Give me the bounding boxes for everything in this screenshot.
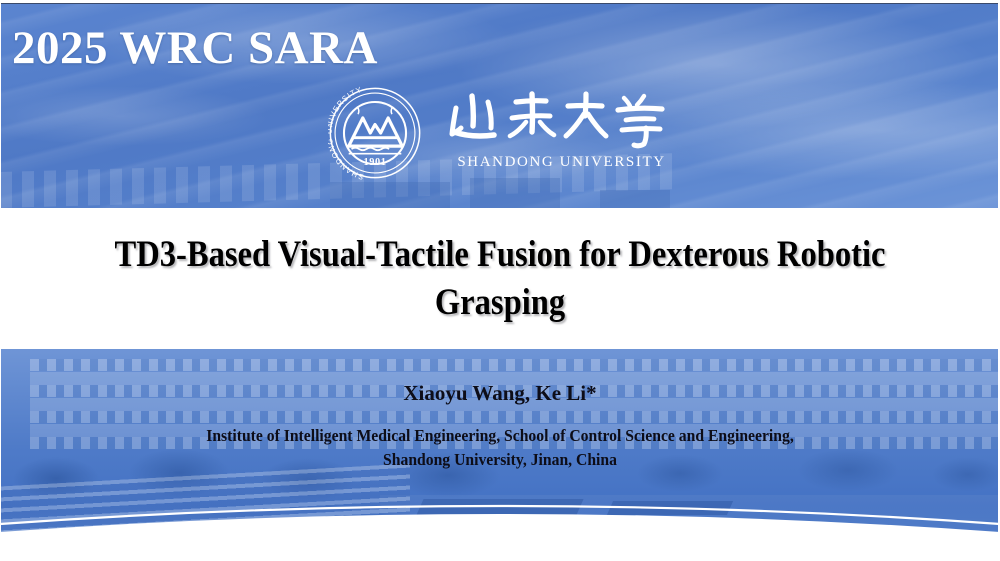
rooftop-block: [470, 178, 560, 208]
conference-name: 2025 WRC SARA: [12, 24, 378, 73]
author-names: Xiaoyu Wang, Ke Li*: [0, 380, 1000, 407]
plaza-slab: [607, 501, 733, 515]
top-hairline: [0, 3, 1000, 4]
rooftop-block: [600, 190, 670, 208]
paper-title: TD3-Based Visual-Tactile Fusion for Dext…: [86, 231, 913, 326]
left-edge-border: [0, 0, 1, 561]
english-university-name: SHANDONG UNIVERSITY: [454, 154, 669, 171]
affiliation-line-1: Institute of Intelligent Medical Enginee…: [25, 424, 975, 448]
seal-ring-text: SHANDONG UNIVERSITY: [328, 86, 365, 180]
affiliation: Institute of Intelligent Medical Enginee…: [25, 424, 975, 472]
chinese-university-name: [446, 88, 674, 150]
title-band: TD3-Based Visual-Tactile Fusion for Dext…: [0, 208, 1000, 349]
affiliation-line-2: Shandong University, Jinan, China: [25, 448, 975, 472]
window-row: [30, 359, 1000, 371]
plaza-slab: [416, 499, 583, 515]
shandong-university-logo: 1901 SHANDONG UNIVERSITY: [328, 86, 673, 182]
author-block: Xiaoyu Wang, Ke Li* Institute of Intelli…: [0, 380, 1000, 472]
seal-year: 1901: [364, 157, 387, 168]
rooftop-block: [330, 182, 450, 208]
university-seal-icon: 1901 SHANDONG UNIVERSITY: [328, 86, 422, 180]
header-banner: 2025 WRC SARA 1901: [0, 4, 1000, 208]
title-slide: 2025 WRC SARA 1901: [0, 0, 1000, 561]
